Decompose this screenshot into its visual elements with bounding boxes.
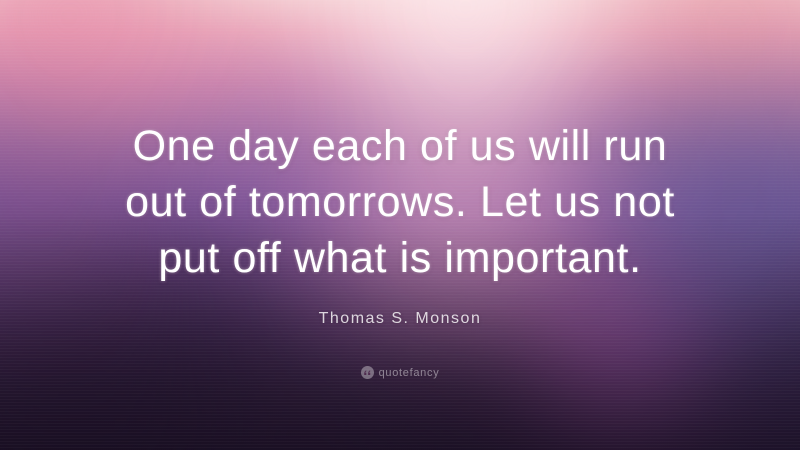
quote-author: Thomas S. Monson <box>0 310 800 328</box>
quote-text-block: One day each of us will run out of tomor… <box>0 118 800 286</box>
quote-line-2: out of tomorrows. Let us not <box>0 174 800 230</box>
quotefancy-watermark[interactable]: quotefancy <box>0 366 800 379</box>
quote-mark-icon <box>361 366 374 379</box>
quote-line-3: put off what is important. <box>0 230 800 286</box>
quote-line-1: One day each of us will run <box>0 118 800 174</box>
content-layer: One day each of us will run out of tomor… <box>0 0 800 450</box>
quotefancy-brand-label: quotefancy <box>379 367 440 379</box>
quote-wallpaper: One day each of us will run out of tomor… <box>0 0 800 450</box>
